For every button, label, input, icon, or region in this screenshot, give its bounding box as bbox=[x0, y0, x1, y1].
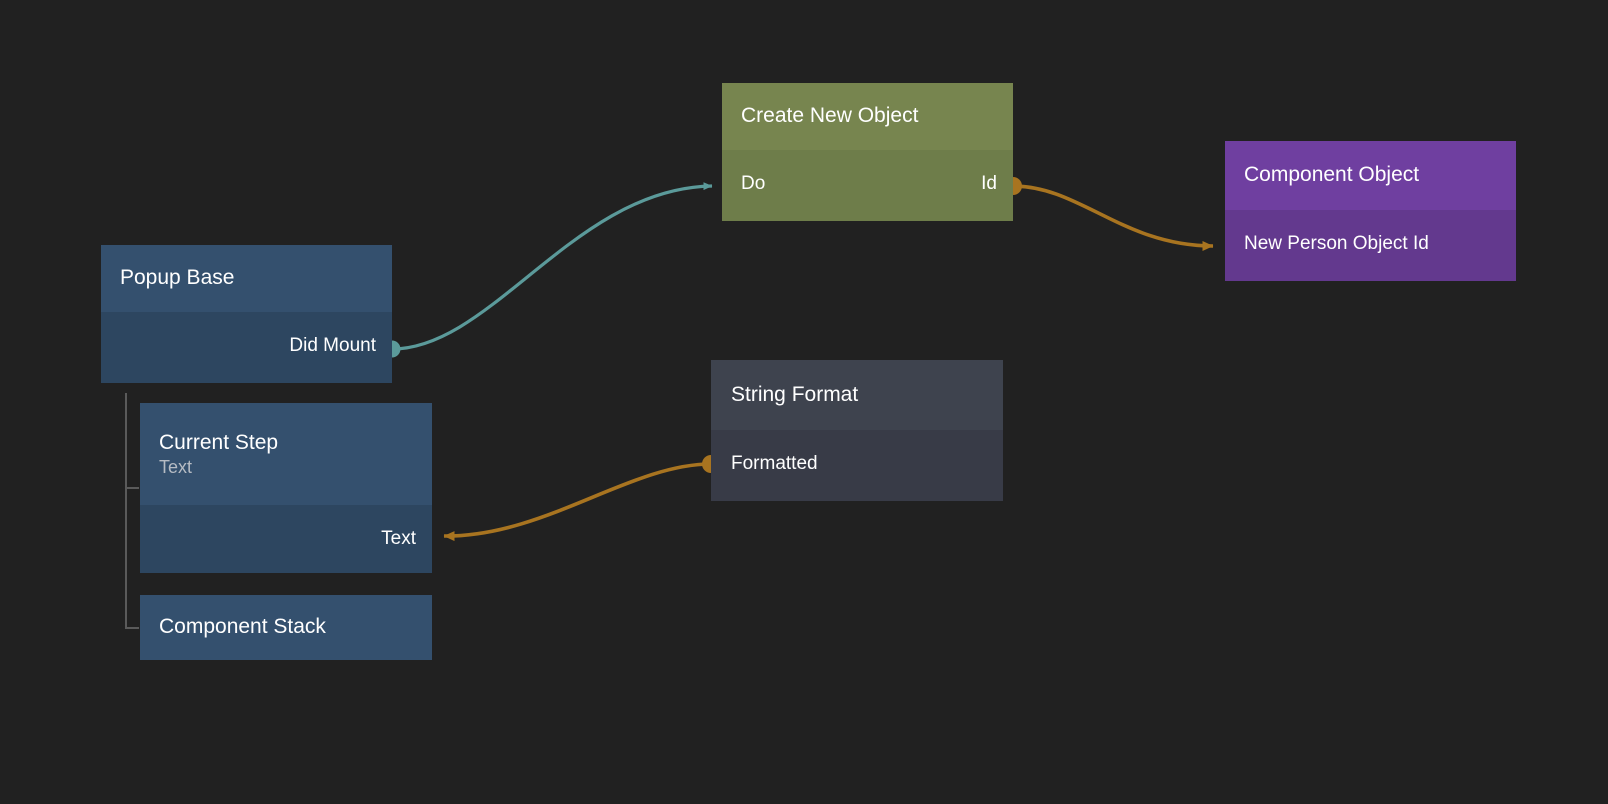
tree-branch-current-step bbox=[125, 487, 139, 489]
node-current-step-title: Current Step bbox=[159, 431, 432, 455]
wire-did-mount-to-do bbox=[384, 186, 713, 358]
node-current-step-subtitle: Text bbox=[159, 457, 432, 478]
node-string-format-title: String Format bbox=[731, 383, 1003, 407]
node-graph-canvas[interactable]: Popup Base Did Mount Current Step Text T… bbox=[0, 0, 1608, 804]
node-create-new-object-header: Create New Object bbox=[722, 83, 1013, 150]
node-create-new-object-body: Do Id bbox=[722, 150, 1013, 221]
node-component-object-header: Component Object bbox=[1225, 141, 1516, 210]
node-string-format[interactable]: String Format Formatted bbox=[711, 360, 1003, 501]
port-row-text-input[interactable]: Text bbox=[381, 529, 416, 548]
node-component-object-body: New Person Object Id bbox=[1225, 210, 1516, 281]
port-row-id[interactable]: Id bbox=[981, 174, 997, 193]
wire-formatted-to-text bbox=[444, 455, 720, 536]
node-string-format-header: String Format bbox=[711, 360, 1003, 430]
node-popup-base-header: Popup Base bbox=[101, 245, 392, 312]
port-label-id: Id bbox=[981, 174, 997, 193]
node-component-object-title: Component Object bbox=[1244, 163, 1516, 187]
port-label-text-input: Text bbox=[381, 529, 416, 548]
port-row-formatted[interactable]: Formatted bbox=[731, 454, 818, 473]
node-popup-base-body: Did Mount bbox=[101, 312, 392, 383]
port-label-formatted: Formatted bbox=[731, 454, 818, 473]
wire-id-to-new-person-object-id bbox=[1004, 177, 1213, 246]
node-string-format-body: Formatted bbox=[711, 430, 1003, 501]
node-popup-base-title: Popup Base bbox=[120, 266, 392, 290]
node-component-object[interactable]: Component Object New Person Object Id bbox=[1225, 141, 1516, 281]
node-component-stack-header: Component Stack bbox=[140, 595, 432, 660]
port-row-did-mount[interactable]: Did Mount bbox=[289, 336, 376, 355]
node-current-step[interactable]: Current Step Text Text bbox=[140, 403, 432, 573]
node-current-step-body: Text bbox=[140, 505, 432, 573]
tree-trunk-line bbox=[125, 393, 127, 629]
port-label-new-person-object-id: New Person Object Id bbox=[1244, 234, 1429, 253]
node-create-new-object-title: Create New Object bbox=[741, 104, 1013, 128]
port-label-did-mount: Did Mount bbox=[289, 336, 376, 355]
port-row-do[interactable]: Do bbox=[741, 174, 765, 193]
port-label-do: Do bbox=[741, 174, 765, 193]
node-create-new-object[interactable]: Create New Object Do Id bbox=[722, 83, 1013, 221]
node-current-step-header: Current Step Text bbox=[140, 403, 432, 505]
node-component-stack-title: Component Stack bbox=[159, 615, 432, 639]
node-component-stack[interactable]: Component Stack bbox=[140, 595, 432, 660]
tree-branch-component-stack bbox=[125, 627, 139, 629]
port-row-new-person-object-id[interactable]: New Person Object Id bbox=[1244, 234, 1429, 253]
node-popup-base[interactable]: Popup Base Did Mount bbox=[101, 245, 392, 383]
